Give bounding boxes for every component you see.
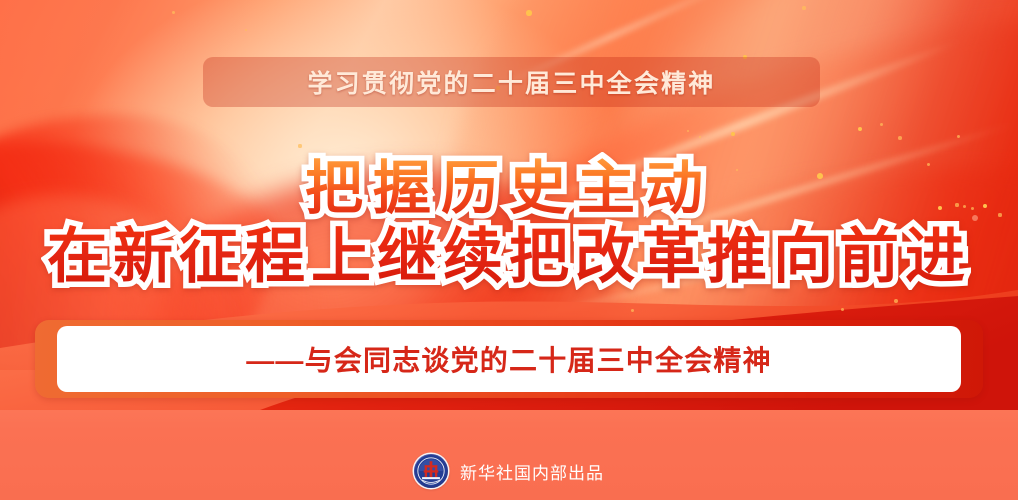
poster-canvas: 学习贯彻党的二十届三中全会精神 把握历史主动 把握历史主动 在新征程上继续把改革…: [0, 0, 1018, 500]
headline-block: 把握历史主动 把握历史主动 在新征程上继续把改革推向前进 在新征程上继续把改革推…: [0, 158, 1018, 289]
sparkle-dot: [172, 11, 175, 14]
subtitle-text: ——与会同志谈党的二十届三中全会精神: [246, 339, 772, 379]
sparkle-dot: [687, 130, 690, 133]
headline-line-2-fill: 在新征程上继续把改革推向前进: [0, 225, 1018, 289]
subtitle-bar: ——与会同志谈党的二十届三中全会精神: [35, 320, 983, 398]
sparkle-dot: [731, 132, 736, 137]
headline-line-1: 把握历史主动 把握历史主动: [0, 158, 1018, 219]
eyebrow-banner: 学习贯彻党的二十届三中全会精神: [203, 57, 820, 107]
footer-credit-text: 新华社国内部出品: [460, 459, 604, 484]
eyebrow-text: 学习贯彻党的二十届三中全会精神: [307, 64, 715, 100]
sparkle-dot: [898, 136, 902, 140]
headline-line-1-fill: 把握历史主动: [0, 158, 1018, 219]
sparkle-dot: [858, 127, 863, 132]
xinhua-news-agency-logo-icon: [414, 454, 448, 488]
footer-credit: 新华社国内部出品: [0, 454, 1018, 488]
sparkle-dot: [880, 123, 883, 126]
sparkle-dot: [699, 136, 702, 139]
sparkle-dot: [526, 10, 531, 15]
sparkle-dot: [802, 6, 805, 9]
headline-line-2: 在新征程上继续把改革推向前进 在新征程上继续把改革推向前进: [0, 225, 1018, 289]
sparkle-dot: [298, 144, 301, 147]
subtitle-inner-panel: ——与会同志谈党的二十届三中全会精神: [57, 326, 961, 392]
sparkle-dot: [245, 29, 248, 32]
sparkle-dot: [957, 135, 960, 138]
